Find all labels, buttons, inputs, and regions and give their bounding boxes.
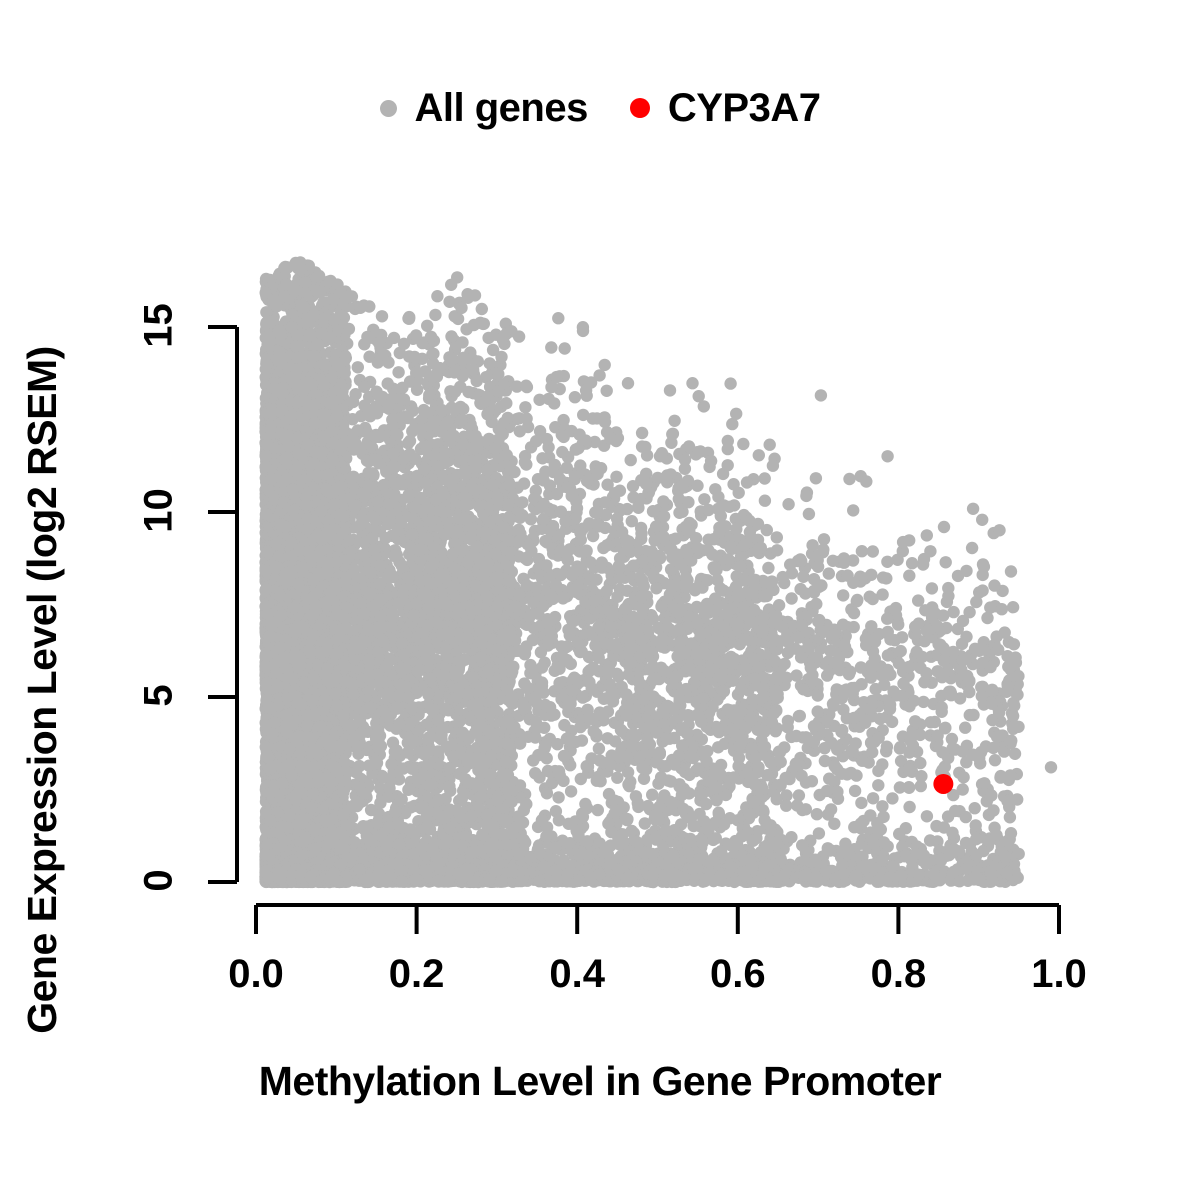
y-tick-label: 15	[137, 286, 182, 366]
y-axis-title: Gene Expression Level (log2 RSEM)	[12, 90, 72, 1200]
x-tick-label: 1.0	[1031, 952, 1087, 997]
x-tick-label: 0.8	[871, 952, 927, 997]
x-axis-title: Methylation Level in Gene Promoter	[0, 1058, 1200, 1105]
x-tick-label: 0.0	[228, 952, 284, 997]
highlighted-point-cyp3a7[interactable]	[933, 774, 953, 794]
y-tick-label: 5	[137, 656, 182, 736]
data-points-layer	[259, 256, 1057, 888]
y-tick-label: 10	[137, 471, 182, 551]
plot-area	[0, 0, 1200, 1200]
y-axis-title-wrapper: Gene Expression Level (log2 RSEM)	[12, 90, 72, 1200]
x-tick-label: 0.2	[389, 952, 445, 997]
y-tick-label: 0	[137, 841, 182, 921]
x-tick-label: 0.4	[549, 952, 605, 997]
x-tick-label: 0.6	[710, 952, 766, 997]
scatter-plot-figure: All genes CYP3A7 0.00.20.40.60.81.0 0510…	[0, 0, 1200, 1200]
